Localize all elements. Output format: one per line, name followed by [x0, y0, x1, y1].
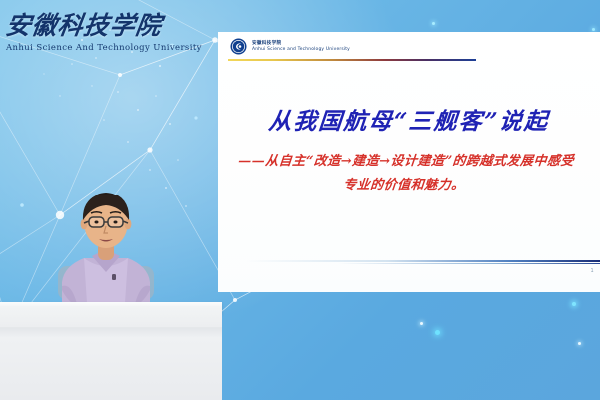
sparkle-dot: [420, 322, 423, 325]
slide-subtitle-line-1: ——从自主“改造→建造→设计建造”的跨越式发展中感受: [218, 150, 600, 174]
slide-title: 从我国航母“三舰客”说起: [218, 102, 600, 136]
video-lecture-frame: 安徽科技学院 安徽科技学院 Anhui Science And Technolo…: [0, 0, 600, 400]
sparkle-dot: [572, 302, 576, 306]
presenter-figure: [0, 178, 210, 318]
footer-divider-rule: [246, 260, 600, 262]
sparkle-dot: [578, 342, 581, 345]
university-seal-logo: [230, 38, 247, 55]
header-divider-rule: [228, 59, 476, 61]
slide-header-text: 安徽科技学院 Anhui Science and Technology Univ…: [252, 41, 350, 51]
channel-watermark: 安徽科技学院 Anhui Science And Technology Univ…: [6, 6, 196, 53]
presentation-slide: 安徽科技学院 Anhui Science and Technology Univ…: [218, 32, 600, 292]
slide-header-en: Anhui Science and Technology University: [252, 47, 350, 52]
sparkle-dot: [435, 330, 440, 335]
desk-front-panel: 安徽科技学院: [0, 306, 222, 400]
watermark-name-en: Anhui Science And Technology University: [6, 43, 196, 53]
slide-subtitle: ——从自主“改造→建造→设计建造”的跨越式发展中感受 专业的价值和魅力。: [218, 150, 600, 198]
sparkle-dot: [592, 28, 595, 31]
slide-subtitle-line-2: 专业的价值和魅力。: [218, 174, 600, 198]
slide-page-number: 1: [591, 268, 594, 274]
footer-divider-rule-secondary: [338, 263, 600, 264]
sparkle-dot: [432, 22, 435, 25]
slide-header: 安徽科技学院 Anhui Science and Technology Univ…: [230, 38, 350, 55]
watermark-name-cn: 安徽科技学院: [3, 6, 198, 42]
